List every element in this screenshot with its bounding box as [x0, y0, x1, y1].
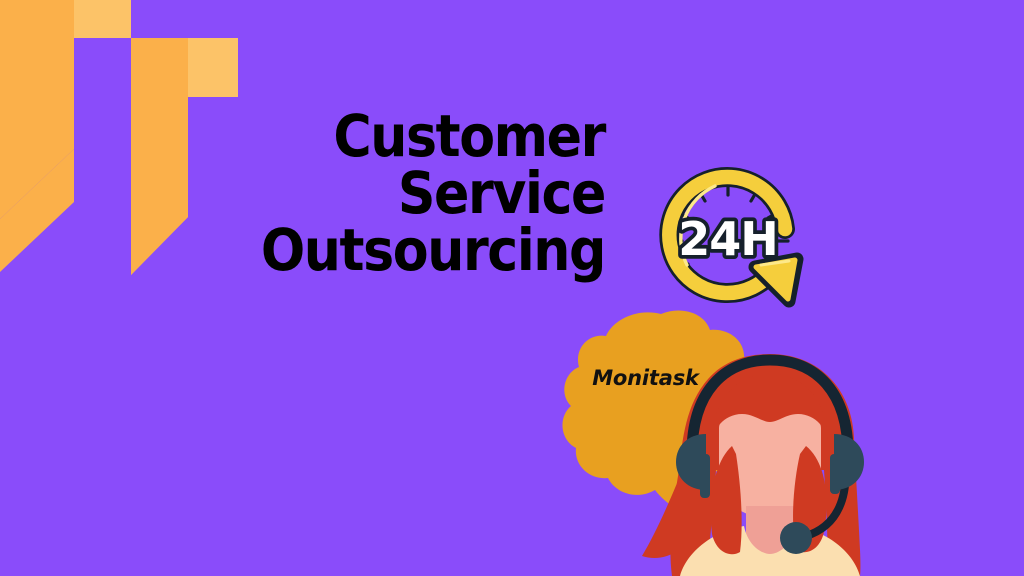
badge-label: 24H: [678, 212, 778, 266]
agent-mic-capsule: [780, 522, 812, 554]
headline-line-1: Customer: [150, 108, 605, 165]
page-title: Customer Service Outsourcing: [150, 108, 605, 278]
clock-rotate-24h-icon: 24H 24H: [643, 155, 813, 315]
agent-hair-side-flick: [642, 476, 682, 558]
headline-line-3: Outsourcing: [150, 222, 605, 279]
banner-canvas: Customer Service Outsourcing 24: [0, 0, 1024, 576]
agent-earcup-right-stem: [830, 454, 840, 494]
agent-earcup-left-stem: [700, 454, 710, 498]
headline-line-2: Service: [150, 165, 605, 222]
customer-support-agent-avatar: [620, 350, 920, 576]
